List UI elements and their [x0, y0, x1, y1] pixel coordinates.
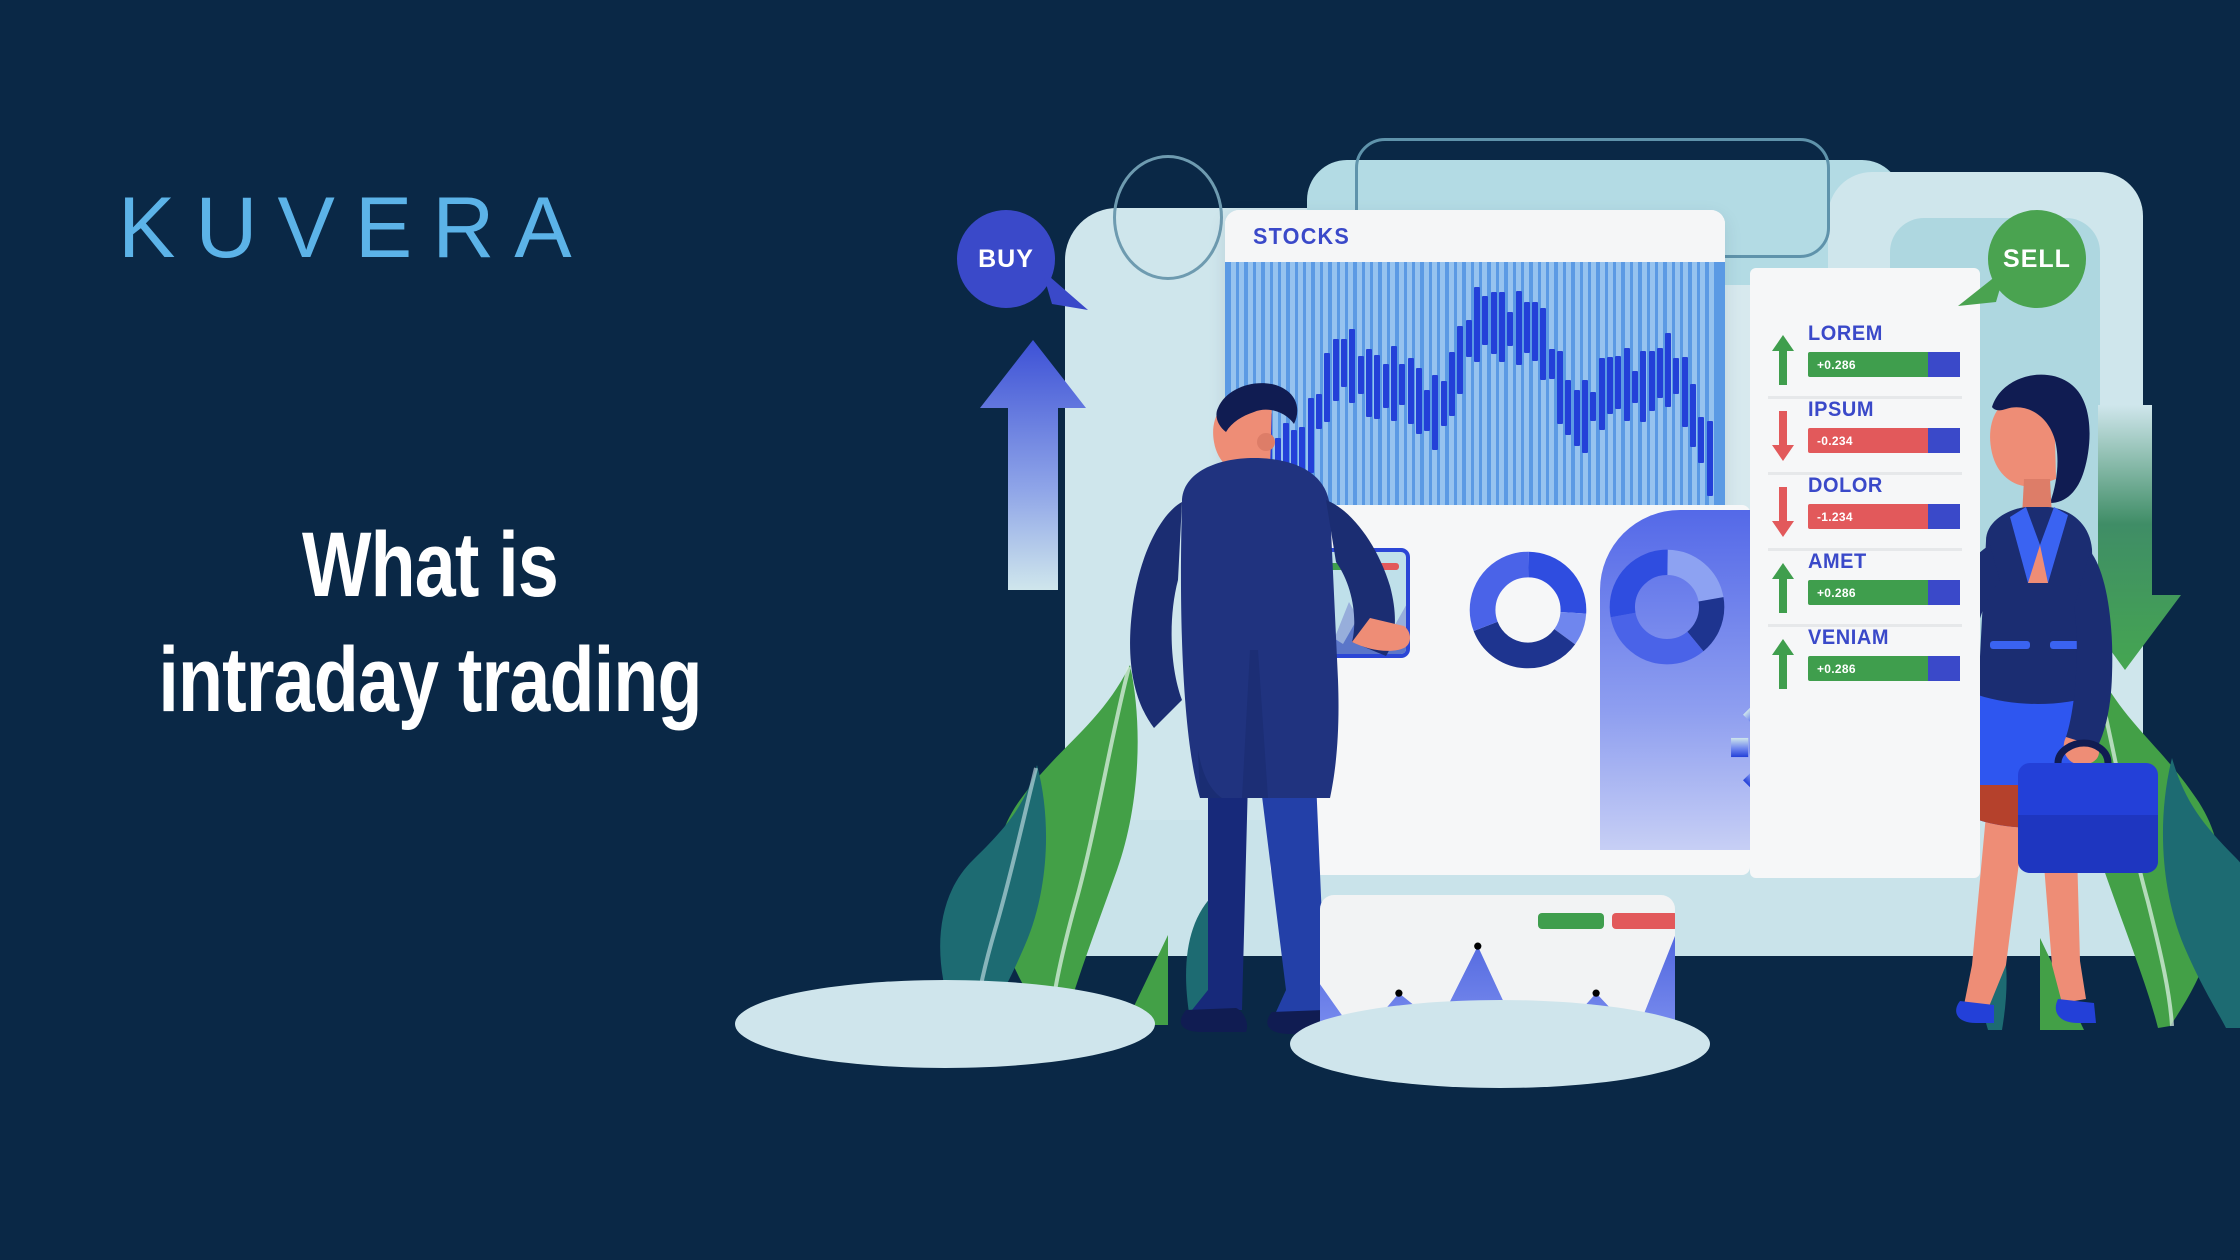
arrow-down-icon [1772, 411, 1794, 461]
candlestick [1682, 357, 1688, 426]
arrow-up-icon [978, 340, 1088, 590]
ticker-row[interactable]: VENIAM+0.286 [1768, 627, 1962, 703]
candlestick [1599, 358, 1605, 430]
arrow-down-icon [1772, 487, 1794, 537]
ticker-row[interactable]: IPSUM-0.234 [1768, 399, 1962, 475]
candlestick [1624, 348, 1630, 422]
ticker-list-panel[interactable]: LOREM+0.286IPSUM-0.234DOLOR-1.234AMET+0.… [1750, 268, 1980, 878]
candlestick [1565, 380, 1571, 435]
candlestick [1474, 287, 1480, 362]
legend-gain [1538, 913, 1604, 929]
ticker-change-bar: +0.286 [1808, 580, 1960, 605]
ticker-change-bar: +0.286 [1808, 352, 1960, 377]
sell-label: SELL [2003, 245, 2071, 274]
peak-marker [1593, 990, 1600, 997]
candlestick [1615, 356, 1621, 409]
candlestick [1640, 351, 1646, 422]
ticker-change-bar: -1.234 [1808, 504, 1960, 529]
ticker-bar-cap [1928, 428, 1960, 453]
donut-chart-2 [1608, 548, 1726, 666]
decor-circle-outline [1113, 155, 1223, 280]
candlestick [1665, 333, 1671, 407]
stocks-title: STOCKS [1253, 223, 1350, 250]
ticker-symbol: LOREM [1808, 323, 1954, 344]
kuvera-logo: KUVERA [118, 185, 592, 271]
ground-shadow-woman [1290, 1000, 1710, 1088]
ticker-change-value: +0.286 [1808, 586, 1856, 600]
candlestick [1607, 357, 1613, 414]
candlestick [1524, 302, 1530, 354]
arrow-up-icon [1772, 563, 1794, 613]
chart-gridline [1466, 262, 1471, 540]
legend-loss [1612, 913, 1675, 929]
chart-gridline [1700, 262, 1705, 540]
buy-badge[interactable]: BUY [957, 210, 1055, 308]
peak-marker [1395, 990, 1402, 997]
arrow-up-icon [1772, 639, 1794, 689]
candlestick [1532, 302, 1538, 361]
ticker-bar-cap [1928, 656, 1960, 681]
ticker-symbol: AMET [1808, 551, 1954, 572]
ticker-symbol: IPSUM [1808, 399, 1954, 420]
ticker-symbol: DOLOR [1808, 475, 1954, 496]
chart-gridline [1658, 262, 1663, 540]
candlestick [1557, 351, 1563, 424]
candlestick [1466, 320, 1472, 358]
ground-shadow-man [735, 980, 1155, 1068]
ticker-change-bar: +0.286 [1808, 656, 1960, 681]
candlestick [1424, 390, 1430, 431]
candlestick [1632, 371, 1638, 403]
candlestick [1457, 326, 1463, 394]
chart-gridline [1541, 262, 1546, 540]
candlestick [1590, 392, 1596, 421]
buy-badge-tail [1042, 270, 1090, 312]
candlestick [1657, 348, 1663, 398]
candlestick [1516, 291, 1522, 365]
page-title-line-1: What is [86, 508, 774, 623]
ticker-change-value: +0.286 [1808, 662, 1856, 676]
candlestick [1690, 384, 1696, 447]
chart-gridline [1709, 262, 1714, 540]
candlestick [1582, 380, 1588, 453]
candlestick [1549, 349, 1555, 379]
candlestick [1482, 296, 1488, 344]
ticker-bar-cap [1928, 352, 1960, 377]
buy-label: BUY [978, 245, 1034, 274]
candlestick [1649, 351, 1655, 411]
sell-badge-tail [1958, 268, 2006, 310]
ticker-bar-cap [1928, 580, 1960, 605]
ticker-row[interactable]: AMET+0.286 [1768, 551, 1962, 627]
chart-gridline [1508, 262, 1513, 540]
candlestick [1707, 421, 1713, 496]
donut-chart-1 [1468, 550, 1588, 670]
poster-canvas: KUVERA What is intraday trading [0, 0, 2240, 1260]
candlestick [1499, 292, 1505, 362]
ticker-bar-cap [1928, 504, 1960, 529]
ticker-change-value: -1.234 [1808, 510, 1853, 524]
chart-gridline [1457, 262, 1462, 540]
arrow-up-icon [1772, 335, 1794, 385]
ticker-change-bar: -0.234 [1808, 428, 1960, 453]
candlestick [1574, 390, 1580, 446]
ticker-change-value: -0.234 [1808, 434, 1853, 448]
candlestick [1540, 308, 1546, 380]
ticker-symbol: VENIAM [1808, 627, 1954, 648]
ticker-row[interactable]: DOLOR-1.234 [1768, 475, 1962, 551]
chart-gridline [1675, 262, 1680, 540]
page-title: What is intraday trading [86, 508, 774, 738]
candlestick [1441, 381, 1447, 426]
trading-illustration: STOCKS [960, 150, 2240, 1260]
page-title-line-2: intraday trading [86, 623, 774, 738]
candlestick [1491, 292, 1497, 353]
peak-marker [1474, 943, 1481, 950]
stocks-card-header: STOCKS [1225, 210, 1725, 262]
candlestick [1673, 358, 1679, 394]
chart-gridline [1549, 262, 1554, 540]
candlestick [1432, 375, 1438, 450]
candlestick [1698, 417, 1704, 464]
ticker-row[interactable]: LOREM+0.286 [1768, 323, 1962, 399]
ticker-change-value: +0.286 [1808, 358, 1856, 372]
candlestick [1449, 352, 1455, 416]
candlestick [1507, 312, 1513, 346]
